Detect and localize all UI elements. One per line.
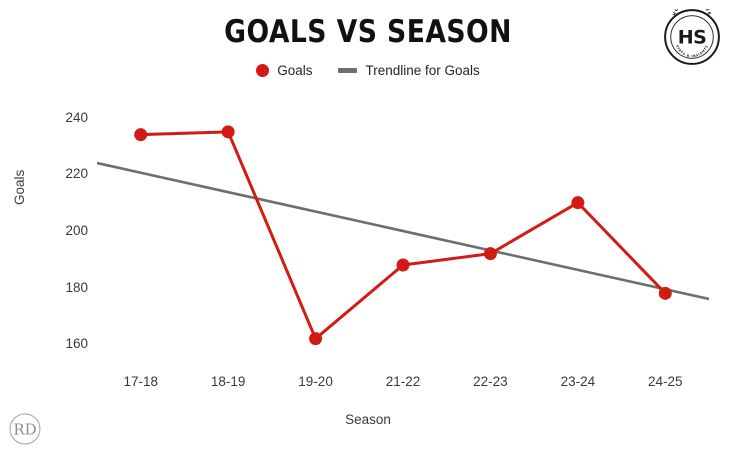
x-tick-label: 17-18 bbox=[101, 374, 181, 389]
circle-marker-icon bbox=[256, 64, 269, 77]
y-tick-label: 180 bbox=[42, 281, 88, 295]
x-tick-label: 21-22 bbox=[363, 374, 443, 389]
goals-line-path bbox=[141, 132, 666, 339]
data-point-marker[interactable] bbox=[397, 259, 410, 272]
dash-marker-icon bbox=[338, 68, 357, 73]
data-point-marker[interactable] bbox=[659, 287, 672, 300]
data-point-marker[interactable] bbox=[134, 128, 147, 141]
data-point-marker[interactable] bbox=[571, 196, 584, 209]
y-tick-label: 220 bbox=[42, 167, 88, 181]
badge-monogram: HS bbox=[678, 27, 707, 49]
legend-item-trendline[interactable]: Trendline for Goals bbox=[338, 63, 479, 78]
y-tick-label: 200 bbox=[42, 224, 88, 238]
legend-label-trendline: Trendline for Goals bbox=[365, 63, 479, 78]
data-point-marker[interactable] bbox=[309, 332, 322, 345]
watermark: RD bbox=[8, 412, 42, 446]
x-tick-label: 19-20 bbox=[276, 374, 356, 389]
chart-legend: Goals Trendline for Goals bbox=[0, 63, 736, 78]
plot-area bbox=[97, 95, 709, 367]
y-tick-label: 240 bbox=[42, 111, 88, 125]
x-tick-label: 18-19 bbox=[188, 374, 268, 389]
goals-markers bbox=[134, 125, 672, 345]
x-tick-label: 22-23 bbox=[450, 374, 530, 389]
x-axis-ticks: 17-1818-1919-2021-2222-2323-2424-25 bbox=[97, 374, 709, 394]
x-tick-label: 23-24 bbox=[538, 374, 618, 389]
y-tick-label: 160 bbox=[42, 337, 88, 351]
chart-canvas: GOALS VS SEASON Goals Trendline for Goal… bbox=[0, 0, 736, 454]
hockey-steve-logo: HOCKEY STEVE STATS & INSIGHTS HS bbox=[664, 9, 720, 65]
x-axis-title: Season bbox=[0, 412, 736, 427]
watermark-icon: RD bbox=[8, 412, 42, 446]
hockey-steve-logo-icon: HOCKEY STEVE STATS & INSIGHTS HS bbox=[664, 9, 720, 65]
y-axis-ticks: 160180200220240 bbox=[36, 95, 88, 367]
x-tick-label: 24-25 bbox=[625, 374, 705, 389]
y-axis-title: Goals bbox=[12, 170, 27, 205]
trendline-path bbox=[97, 163, 709, 299]
data-point-marker[interactable] bbox=[484, 247, 497, 260]
legend-label-goals: Goals bbox=[277, 63, 312, 78]
plot-svg bbox=[97, 95, 709, 367]
legend-item-goals[interactable]: Goals bbox=[256, 63, 312, 78]
data-point-marker[interactable] bbox=[222, 125, 235, 138]
page-title: GOALS VS SEASON bbox=[52, 14, 685, 50]
watermark-monogram: RD bbox=[13, 420, 36, 438]
